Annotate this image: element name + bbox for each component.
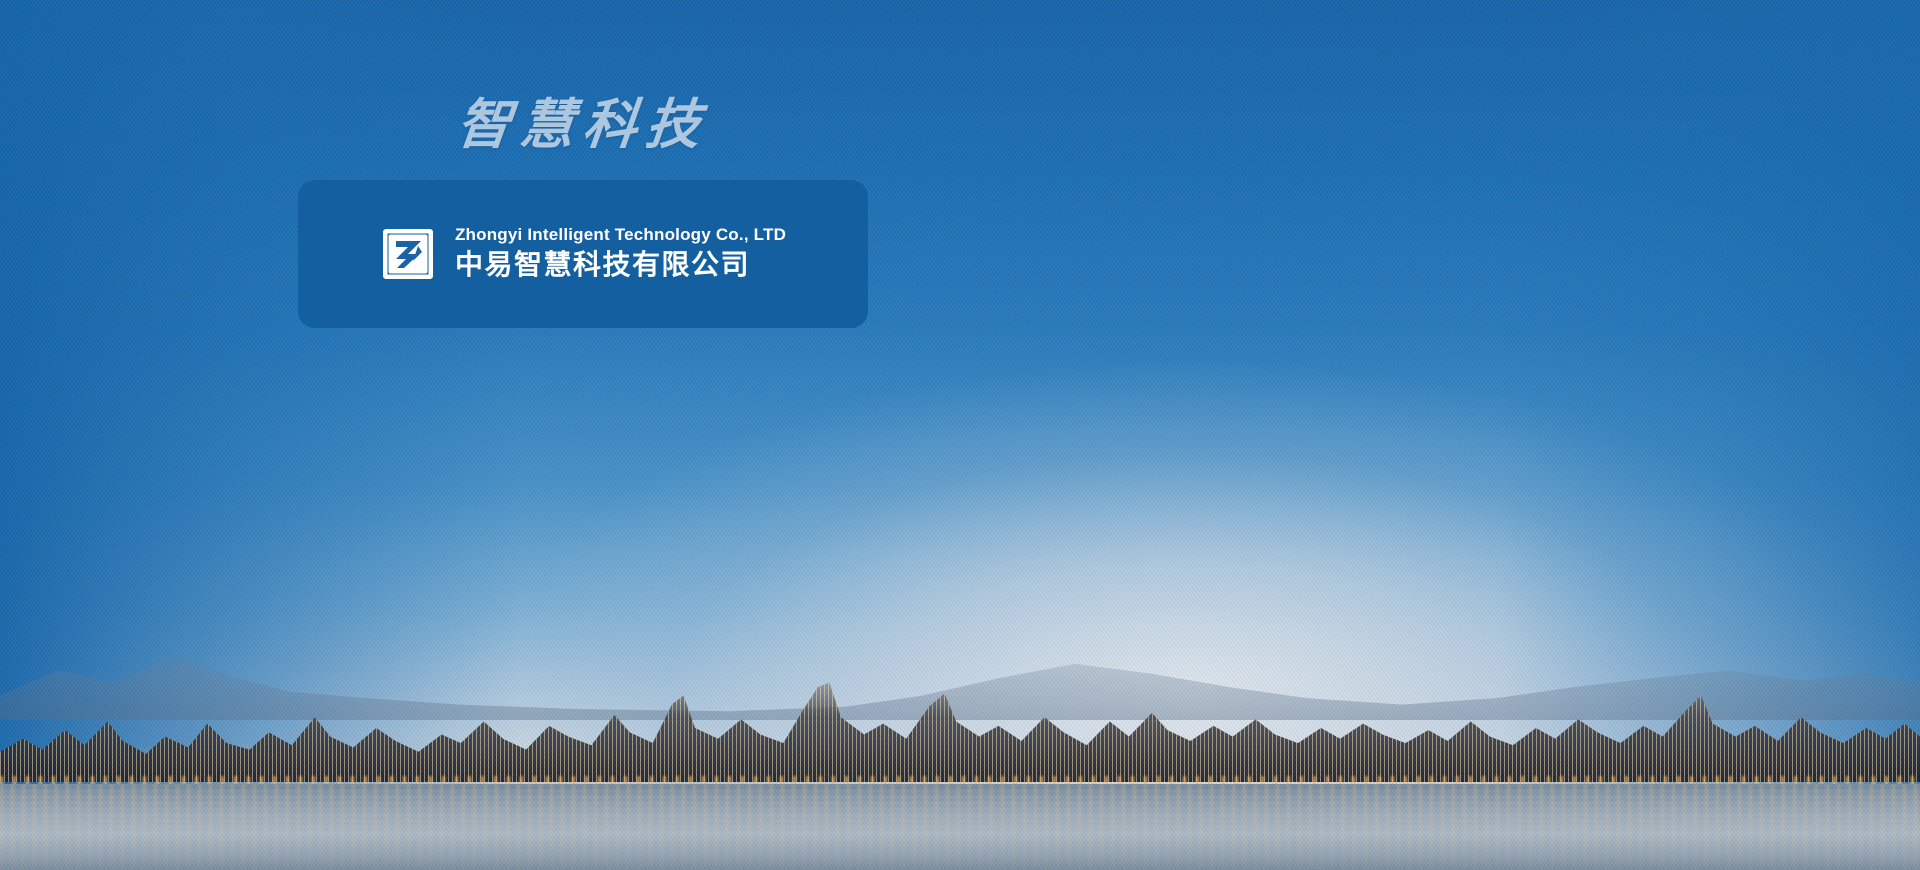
sector-cell-talent-services: 人才科技服务 NY Any technology development Co.… xyxy=(0,435,960,870)
sector-cell-fmcg: 快消品 砚 香 ® Yanxiang trading Co., LTD 砚 xyxy=(960,0,1920,435)
business-sectors-grid: 智慧科技 Zhongyi Intelligent Technology Co.,… xyxy=(0,0,1920,870)
company-name-en-zhongyi: Zhongyi Intelligent Technology Co., LTD xyxy=(455,224,786,245)
page-stage: 智慧科技 Zhongyi Intelligent Technology Co.,… xyxy=(0,0,1920,870)
sector-cell-smart-technology: 智慧科技 Zhongyi Intelligent Technology Co.,… xyxy=(0,0,960,435)
section-title-smart-technology: 智慧科技 xyxy=(295,98,871,152)
company-card-zhongyi[interactable]: Zhongyi Intelligent Technology Co., LTD … xyxy=(298,180,868,328)
company-names-zhongyi: Zhongyi Intelligent Technology Co., LTD … xyxy=(455,224,786,284)
company-name-cn-zhongyi: 中易智慧科技有限公司 xyxy=(455,247,786,284)
sector-cell-real-estate: 房地产开发 Yanxiang real estate development C… xyxy=(960,435,1920,870)
zhongyi-z-mark-icon xyxy=(380,226,436,282)
